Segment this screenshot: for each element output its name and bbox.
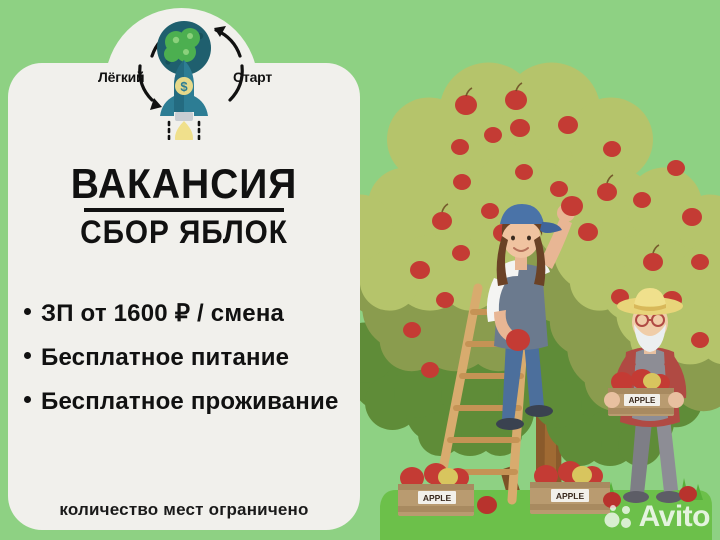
bullet-dot-icon bbox=[24, 396, 31, 403]
apple-crate-held: APPLE bbox=[608, 369, 674, 416]
headline-divider bbox=[84, 208, 284, 212]
limited-slots-note: количество мест ограничено bbox=[8, 500, 360, 520]
apple-crate-left: APPLE bbox=[398, 463, 474, 516]
apple-crate-center: APPLE bbox=[530, 461, 610, 514]
svg-text:$: $ bbox=[180, 79, 188, 94]
avito-wordmark: Avito bbox=[639, 500, 710, 534]
logo-word-right: Старт bbox=[233, 69, 272, 85]
ad-banner: APPLE APPLE bbox=[0, 0, 720, 540]
bullet-dot-icon bbox=[24, 308, 31, 315]
page-title: ВАКАНСИЯ bbox=[20, 162, 347, 206]
legkiy-start-logo: $ Лёгкий Старт bbox=[96, 12, 272, 140]
svg-text:APPLE: APPLE bbox=[629, 396, 656, 405]
list-item: Бесплатное питание bbox=[24, 336, 350, 380]
page-subtitle: СБОР ЯБЛОК bbox=[20, 215, 347, 249]
headline-block: ВАКАНСИЯ СБОР ЯБЛОК bbox=[8, 162, 360, 249]
benefits-list: ЗП от 1600 ₽ / смена Бесплатное питание … bbox=[24, 292, 350, 424]
list-item-label: ЗП от 1600 ₽ / смена bbox=[41, 292, 284, 336]
svg-text:APPLE: APPLE bbox=[556, 491, 585, 501]
logo-word-left: Лёгкий bbox=[98, 69, 144, 85]
list-item: ЗП от 1600 ₽ / смена bbox=[24, 292, 350, 336]
list-item: Бесплатное проживание bbox=[24, 380, 350, 424]
avito-watermark: Avito bbox=[604, 500, 710, 534]
list-item-label: Бесплатное питание bbox=[41, 336, 289, 380]
list-item-label: Бесплатное проживание bbox=[41, 380, 339, 424]
bullet-dot-icon bbox=[24, 352, 31, 359]
avito-dots-logo bbox=[604, 503, 634, 531]
svg-text:APPLE: APPLE bbox=[423, 493, 452, 503]
